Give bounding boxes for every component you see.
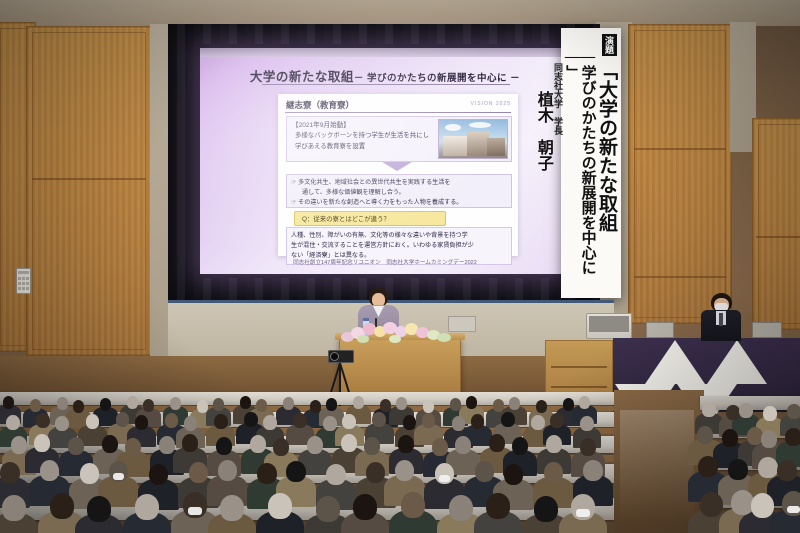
audience-member-head (2, 495, 25, 521)
audience-face-mask (576, 509, 590, 517)
audience-member-head (165, 413, 179, 428)
slide-title-sub: － 学びのかたちの新展開を中心に － (354, 73, 520, 84)
audience-member-head (257, 463, 276, 484)
audience-member-head (455, 436, 471, 454)
slide-arrow-icon (382, 162, 412, 171)
audience-member-head (728, 459, 747, 480)
audience-member-head (184, 416, 198, 431)
audience-member-head (30, 399, 42, 412)
audience-member-head (0, 462, 19, 483)
audience-member-head (250, 435, 266, 453)
slide-card-heading: 継志寮（教育寮） (286, 99, 354, 111)
audience-member-head (135, 415, 149, 430)
audience-member-head (125, 438, 141, 456)
audience-member-head (73, 400, 85, 413)
slide-title-main: 大学の新たな取組 (250, 70, 354, 84)
audience-member-head (68, 437, 84, 455)
audience-member-head (452, 416, 466, 431)
wall-panel-seam-left (32, 178, 146, 180)
audience-member-head (353, 396, 365, 409)
audience-member-head (268, 493, 291, 519)
audience-member-head (149, 464, 168, 485)
audience-member-head (135, 494, 158, 520)
wall-panel-seam-right-2 (634, 276, 726, 278)
banner-speaker-name: 植木 朝子 (535, 91, 551, 171)
audience-member-head (6, 415, 20, 430)
audience-member-head (170, 397, 182, 410)
audience-member-head (218, 460, 237, 481)
audience-member-head (366, 462, 385, 483)
audience-member-head (489, 434, 505, 452)
audience-member-head (263, 415, 277, 430)
audience-member-head (102, 435, 118, 453)
audience-member-head (486, 493, 509, 519)
audience-member-head (182, 434, 198, 452)
slide-intro-line-2: 学びあえる教育寮を設置 (295, 141, 365, 150)
wall-panel-right-far (752, 118, 800, 330)
crt-monitor (586, 313, 632, 339)
staff-necktie (719, 313, 723, 326)
audience-member-head (326, 398, 338, 411)
audience-member-head (380, 399, 392, 412)
audience-member-head (87, 496, 110, 522)
audience-face-mask (439, 475, 451, 481)
audience-member-head (531, 415, 545, 430)
audience-member-head (702, 402, 715, 417)
slide-title: 大学の新たな取組－ 学びのかたちの新展開を中心に － (200, 66, 570, 85)
audience-member-head (342, 414, 356, 429)
audience-member-head (512, 437, 528, 455)
screen-top-band (200, 48, 570, 57)
audience-member-head (116, 412, 130, 427)
audience-member-head (143, 399, 155, 412)
audience-member-head (700, 492, 723, 517)
audience-member-head (450, 398, 462, 411)
audience-member-head (563, 398, 575, 411)
audience-member-head (580, 416, 594, 431)
audience-member-head (286, 461, 305, 482)
audience-member-head (722, 429, 738, 447)
audience-member-head (40, 460, 59, 481)
slide-bullet-1-text: 多文化共生、地域社会との異世代共生を実践する生活を (298, 179, 450, 186)
audience-member-head (326, 464, 345, 485)
dormitory-building-photo (438, 119, 508, 159)
audience-member-head (493, 399, 505, 412)
audience-member-head (256, 399, 268, 412)
audience-member-head (55, 416, 69, 431)
audience-face-mask (188, 507, 202, 515)
audience-member-head (583, 460, 602, 481)
audience-member-head (398, 435, 414, 453)
audience-member-head (310, 400, 322, 413)
audience-member-head (509, 397, 521, 410)
audience-member-head (127, 396, 139, 409)
projection-screen: 大学の新たな取組－ 学びのかたちの新展開を中心に － 継志寮（教育寮） VISI… (200, 48, 570, 274)
wall-control-panel[interactable] (16, 268, 31, 294)
audience-member-head (36, 413, 50, 428)
slide-bullet-2-text: その違いを新たな創造へと導く力をもった人物を養成する。 (298, 199, 462, 206)
audience-member-head (216, 437, 232, 455)
audience-member-head (50, 493, 73, 519)
wall-panel-seam-far (756, 236, 800, 238)
slide-card-date: VISION 2025 (471, 101, 511, 107)
audience-member-head (159, 436, 175, 454)
staff-laptop (752, 322, 782, 338)
lecture-hall-photo: 大学の新たな取組－ 学びのかたちの新展開を中心に － 継志寮（教育寮） VISI… (0, 0, 800, 533)
audience-member-head (579, 396, 591, 409)
audience-member-head (758, 457, 777, 478)
audience-member-head (396, 397, 408, 410)
audience-member-head (11, 436, 27, 454)
audience-member-head (534, 496, 557, 522)
audience-member-head (240, 396, 252, 409)
slide-body-line-2: 生が混住・交流することを運営方針におく。いわゆる家賃負担が少 (291, 240, 474, 249)
slide-bullet-1b: 通して、多様な価値観を理解し合う。 (302, 187, 405, 196)
banner-kicker: 演題 (602, 34, 617, 56)
slide-intro-line-1: 多様なバックボーンを持つ学生が生活を共にし (295, 130, 429, 139)
banner-affiliation: 同志社大学 学長 (553, 63, 562, 135)
audience-member-head (197, 400, 209, 413)
audience-member-head (466, 396, 478, 409)
slide-bullet-2: ☞ その違いを新たな創造へと導く力をもった人物を養成する。 (291, 197, 462, 206)
audience-member-head (316, 496, 339, 522)
audience-member-head (353, 494, 376, 520)
audience-member-head (777, 460, 796, 481)
audience-member-head (787, 404, 800, 419)
camera-lens-icon (331, 353, 338, 360)
audience-member-head (220, 495, 243, 521)
audience-member-head (57, 397, 69, 410)
audience-member-head (471, 414, 485, 429)
audience-member-head (785, 428, 800, 446)
banner-subtitle: ―学びのかたちの新展開を中心に―」 (564, 49, 595, 275)
crest-triangle-top-right (707, 340, 767, 384)
audience-member-head (763, 406, 776, 421)
audience-member-head (395, 460, 414, 481)
flower-arrangement (337, 320, 457, 344)
audience-member-head (372, 412, 386, 427)
ceiling-beam (0, 0, 800, 26)
slide-body-line-1: 人種、性別、障がいの有無、文化等の様々な違いや背景を持つ学 (291, 230, 468, 239)
audience-member-head (739, 403, 752, 418)
audience-member-head (698, 456, 717, 477)
slide-bullet-1: ☞ 多文化共生、地域社会との異世代共生を実践する生活を (291, 177, 450, 186)
audience-member-head (293, 413, 307, 428)
audience-member-head (401, 492, 424, 518)
audience-member-head (550, 413, 564, 428)
audience-member-head (751, 493, 774, 518)
slide-footer: 同志社創立147周年記念リユニオン 同志社大学ホームカミングデー2022 (200, 258, 570, 266)
audience-member-head (189, 462, 208, 483)
audience-member-head (501, 412, 515, 427)
audience-member-head (364, 437, 380, 455)
audience-member-head (273, 438, 289, 456)
wall-panel-right-main (628, 24, 732, 324)
aisle-floor-reflection (620, 410, 694, 520)
wall-panel-left-main (26, 26, 152, 356)
audience-member-head (283, 397, 295, 410)
audience-member-head (100, 398, 112, 411)
audience-member-head (432, 438, 448, 456)
audience-member-head (475, 461, 494, 482)
audience-member-head (3, 396, 15, 409)
seated-staff-member (700, 293, 742, 341)
slide-question-text: Q：従来の寮とはどこが違う？ (302, 214, 390, 223)
audience-member-head (80, 463, 99, 484)
slide-title-underline (262, 84, 510, 85)
audience-member-head (323, 416, 337, 431)
audience-member-head (504, 464, 523, 485)
audience-member-head (449, 495, 472, 521)
audience-member-head (697, 426, 713, 444)
audience-member-head (86, 414, 100, 429)
audience-member-head (214, 414, 228, 429)
seat-row-r1 (0, 392, 614, 405)
audience-member-head (422, 413, 436, 428)
lecture-title-banner: 演題 「大学の新たな取組 ―学びのかたちの新展開を中心に―」 同志社大学 学長 … (561, 28, 621, 298)
slide-content-card: 継志寮（教育寮） VISION 2025 【2021年9月始動】 多様なバックボ… (278, 94, 518, 256)
audience-member-head (546, 435, 562, 453)
slide-card-heading-rule (285, 112, 511, 113)
audience-member-head (307, 436, 323, 454)
audience-member-head (213, 398, 225, 411)
crest-triangle-top-left (645, 340, 705, 384)
audience-member-head (403, 415, 417, 430)
audience-member-head (536, 400, 548, 413)
audience-member-head (341, 434, 357, 452)
audience-member-head (761, 430, 777, 448)
banner-title: 「大学の新たな取組 (597, 61, 616, 232)
audience-member-head (423, 400, 435, 413)
wall-panel-seam-right-1 (634, 148, 726, 150)
audience-face-mask (113, 473, 125, 479)
laptop-computer (646, 322, 674, 338)
audience-member-head (580, 438, 596, 456)
audience-member-head (244, 412, 258, 427)
slide-intro-date: 【2021年9月始動】 (292, 119, 350, 129)
audience-member-head (34, 434, 50, 452)
audience-member-head (544, 462, 563, 483)
audience-face-mask (787, 506, 800, 514)
audience-member-head (726, 405, 739, 420)
